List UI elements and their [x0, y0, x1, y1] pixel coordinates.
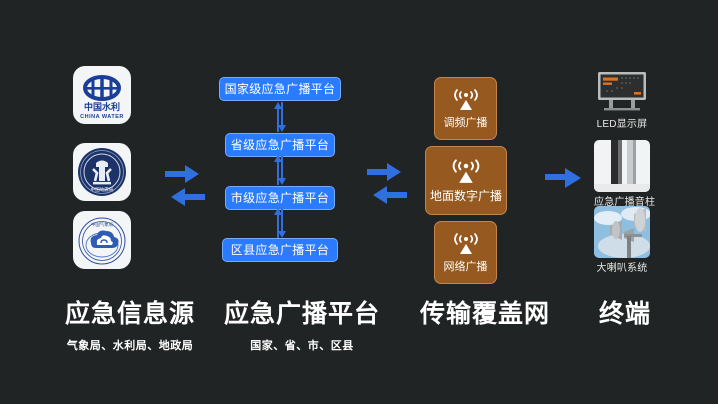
arrow-left-icon — [373, 186, 407, 204]
china-earthquake-logo: 中国地震局 — [73, 143, 131, 201]
broadcast-tower-icon — [452, 231, 480, 255]
source-logo-china-water: 中国水利 CHINA WATER — [73, 66, 131, 124]
svg-text:CHINA WATER: CHINA WATER — [80, 114, 124, 120]
section-title-transmission: 传输覆盖网 — [400, 294, 570, 330]
connector-platforms-transmission — [365, 158, 409, 210]
platform-link-provincial-city — [272, 155, 288, 185]
platform-box-city[interactable]: 市级应急广播平台 — [225, 186, 335, 210]
section-subtitle-sources: 气象局、水利局、地政局 — [40, 337, 220, 353]
arrow-right-icon — [165, 165, 199, 183]
source-logo-china-meteorological: 中国气象局 — [73, 211, 131, 269]
transmission-label-network: 网络广播 — [444, 258, 488, 274]
horn-loudspeaker-icon — [594, 206, 650, 258]
arrow-left-icon — [171, 188, 205, 206]
section-sources: 应急信息源 气象局、水利局、地政局 — [40, 294, 220, 353]
platform-link-city-county — [272, 208, 288, 238]
section-terminals: 终端 — [570, 294, 680, 330]
section-subtitle-platforms: 国家、省、市、区县 — [212, 337, 392, 353]
terminal-led-display[interactable]: LED显示屏 — [594, 68, 650, 132]
platform-link-national-provincial — [272, 102, 288, 132]
platform-box-national[interactable]: 国家级应急广播平台 — [219, 77, 341, 101]
terminal-label-led-display: LED显示屏 — [597, 119, 648, 130]
speaker-column-icon — [594, 140, 650, 192]
diagram-canvas: 中国水利 CHINA WATER 中国地震局 中国气象局 — [0, 0, 718, 404]
china-meteorological-logo: 中国气象局 — [73, 211, 131, 269]
transmission-box-fm[interactable]: 调频广播 — [434, 77, 497, 140]
led-display-icon — [594, 68, 650, 114]
section-title-platforms: 应急广播平台 — [212, 294, 392, 330]
svg-text:中国地震局: 中国地震局 — [91, 186, 114, 193]
source-logo-china-earthquake: 中国地震局 — [73, 143, 131, 201]
transmission-box-network[interactable]: 网络广播 — [434, 221, 497, 284]
section-transmission: 传输覆盖网 — [400, 294, 570, 330]
broadcast-tower-icon — [452, 87, 480, 111]
transmission-label-fm: 调频广播 — [444, 114, 488, 130]
section-platforms: 应急广播平台 国家、省、市、区县 — [212, 294, 392, 353]
arrow-right-icon — [367, 163, 401, 181]
platform-box-county[interactable]: 区县应急广播平台 — [222, 238, 338, 262]
svg-text:中国水利: 中国水利 — [84, 101, 120, 113]
terminal-horn-loudspeaker[interactable]: 大喇叭系统 — [594, 206, 650, 276]
china-water-logo: 中国水利 CHINA WATER — [73, 66, 131, 124]
platform-box-provincial[interactable]: 省级应急广播平台 — [225, 133, 335, 157]
svg-text:中国气象局: 中国气象局 — [91, 221, 113, 228]
transmission-box-terrestrial-digital[interactable]: 地面数字广播 — [425, 146, 507, 215]
transmission-label-terrestrial-digital: 地面数字广播 — [430, 187, 502, 204]
section-title-sources: 应急信息源 — [40, 294, 220, 330]
connector-sources-platforms — [163, 160, 207, 212]
broadcast-tower-icon — [450, 157, 482, 184]
terminal-speaker-column[interactable]: 应急广播音柱 — [594, 140, 650, 210]
terminal-label-horn-loudspeaker: 大喇叭系统 — [597, 263, 648, 274]
connector-transmission-terminals — [543, 163, 587, 215]
arrow-right-icon — [545, 168, 581, 188]
section-title-terminals: 终端 — [570, 294, 680, 330]
